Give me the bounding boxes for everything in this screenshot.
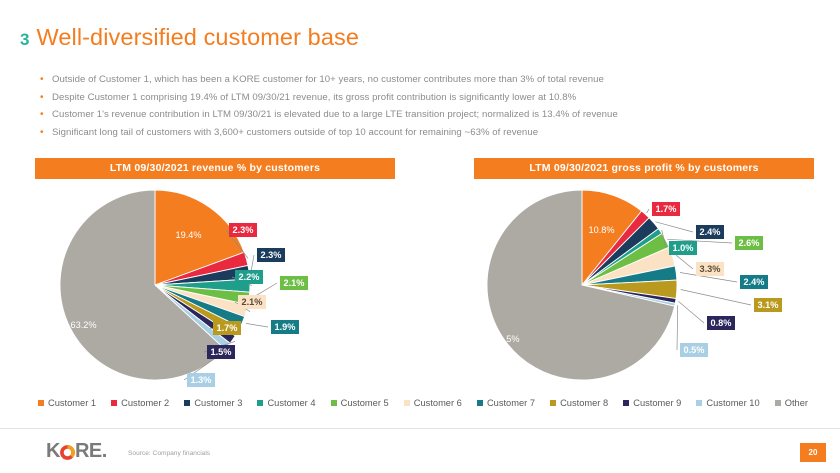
logo-o-ring-icon [60, 444, 75, 459]
bullet-dot-icon: • [40, 108, 52, 122]
revenue-pie-chart: 19.4%2.3%2.3%2.2%2.1%2.1%1.9%1.7%1.5%1.3… [35, 185, 420, 393]
legend-item-customer-8[interactable]: Customer 8 [550, 398, 608, 408]
leader-line [246, 323, 268, 327]
legend-swatch-icon [111, 400, 117, 406]
pie-svg [35, 185, 420, 393]
pie-slice-label: 10.8% [585, 223, 618, 237]
legend-item-customer-5[interactable]: Customer 5 [331, 398, 389, 408]
legend-swatch-icon [696, 400, 702, 406]
legend-label: Customer 2 [121, 398, 169, 408]
pie-slice-label: 71.5% [490, 332, 523, 346]
legend-item-customer-10[interactable]: Customer 10 [696, 398, 759, 408]
legend-swatch-icon [257, 400, 263, 406]
leader-line [677, 305, 678, 350]
leader-line [676, 255, 693, 269]
slide-root: 3 Well-diversified customer base • Outsi… [0, 0, 840, 473]
legend-swatch-icon [477, 400, 483, 406]
legend-label: Customer 6 [414, 398, 462, 408]
legend-item-other[interactable]: Other [775, 398, 808, 408]
bullet-text: Outside of Customer 1, which has been a … [52, 73, 604, 87]
list-item: • Significant long tail of customers wit… [40, 126, 830, 140]
pie-slice-label: 3.3% [696, 262, 724, 276]
legend-label: Customer 8 [560, 398, 608, 408]
source-note: Source: Company financials [128, 450, 210, 457]
pie-slice-label: 1.7% [213, 321, 241, 335]
legend-swatch-icon [404, 400, 410, 406]
leader-line [647, 209, 649, 213]
gross-profit-chart-title: LTM 09/30/2021 gross profit % by custome… [474, 158, 814, 179]
bullet-text: Customer 1's revenue contribution in LTM… [52, 108, 618, 122]
bullet-dot-icon: • [40, 91, 52, 105]
legend-swatch-icon [550, 400, 556, 406]
pie-slice-label: 1.9% [271, 320, 299, 334]
pie-slice-label: 1.3% [187, 373, 215, 387]
slide-number-marker: 3 [20, 31, 29, 48]
legend-label: Customer 7 [487, 398, 535, 408]
pie-slice-label: 2.4% [740, 275, 768, 289]
legend-swatch-icon [331, 400, 337, 406]
leader-line [655, 222, 693, 232]
page-number-badge: 20 [800, 443, 826, 462]
legend-label: Customer 1 [48, 398, 96, 408]
pie-slice-label: 0.5% [680, 343, 708, 357]
kore-logo: K RE. [46, 441, 107, 461]
gross-profit-chart-panel: LTM 09/30/2021 gross profit % by custome… [452, 158, 837, 393]
list-item: • Despite Customer 1 comprising 19.4% of… [40, 91, 830, 105]
pie-slice-label: 2.1% [280, 276, 308, 290]
revenue-chart-panel: LTM 09/30/2021 revenue % by customers 19… [35, 158, 420, 393]
revenue-chart-title: LTM 09/30/2021 revenue % by customers [35, 158, 395, 179]
title-text: Well-diversified customer base [36, 26, 359, 50]
logo-letters-re: RE. [75, 441, 107, 461]
pie-slice-label: 1.5% [207, 345, 235, 359]
page-title: 3 Well-diversified customer base [20, 26, 359, 50]
bullet-text: Significant long tail of customers with … [52, 126, 538, 140]
legend-item-customer-6[interactable]: Customer 6 [404, 398, 462, 408]
legend-label: Customer 5 [341, 398, 389, 408]
legend-item-customer-1[interactable]: Customer 1 [38, 398, 96, 408]
legend-label: Customer 9 [633, 398, 681, 408]
list-item: • Customer 1's revenue contribution in L… [40, 108, 830, 122]
pie-slice-label: 2.3% [229, 223, 257, 237]
legend-item-customer-2[interactable]: Customer 2 [111, 398, 169, 408]
gross-profit-pie-chart: 10.8%1.7%2.4%1.0%2.6%3.3%2.4%3.1%0.8%0.5… [452, 185, 837, 393]
legend-item-customer-3[interactable]: Customer 3 [184, 398, 242, 408]
legend-swatch-icon [623, 400, 629, 406]
pie-slice-label: 2.3% [257, 248, 285, 262]
leader-line [681, 290, 751, 306]
legend-swatch-icon [38, 400, 44, 406]
legend-swatch-icon [184, 400, 190, 406]
pie-slice-label: 0.8% [707, 316, 735, 330]
pie-slice-label: 1.0% [669, 241, 697, 255]
legend-label: Other [785, 398, 808, 408]
bullet-dot-icon: • [40, 126, 52, 140]
pie-slice-label: 2.6% [735, 236, 763, 250]
bullet-text: Despite Customer 1 comprising 19.4% of L… [52, 91, 576, 105]
pie-slice-label: 2.1% [238, 295, 266, 309]
legend-label: Customer 3 [194, 398, 242, 408]
legend-item-customer-7[interactable]: Customer 7 [477, 398, 535, 408]
pie-slice-label: 19.4% [172, 228, 205, 242]
footer-divider [0, 428, 840, 429]
legend-label: Customer 10 [706, 398, 759, 408]
legend-item-customer-9[interactable]: Customer 9 [623, 398, 681, 408]
pie-slice-label: 2.4% [696, 225, 724, 239]
leader-line [679, 301, 705, 323]
pie-slice-label: 1.7% [652, 202, 680, 216]
legend-swatch-icon [775, 400, 781, 406]
logo-letter-k: K [46, 441, 60, 461]
legend-label: Customer 4 [267, 398, 315, 408]
bullet-dot-icon: • [40, 73, 52, 87]
legend-item-customer-4[interactable]: Customer 4 [257, 398, 315, 408]
pie-svg [452, 185, 837, 393]
list-item: • Outside of Customer 1, which has been … [40, 73, 830, 87]
bullet-list: • Outside of Customer 1, which has been … [40, 73, 830, 143]
chart-legend: Customer 1Customer 2Customer 3Customer 4… [38, 398, 808, 408]
pie-slice-label: 63.2% [67, 318, 100, 332]
pie-slice-label: 3.1% [754, 298, 782, 312]
pie-slice-label: 2.2% [235, 270, 263, 284]
